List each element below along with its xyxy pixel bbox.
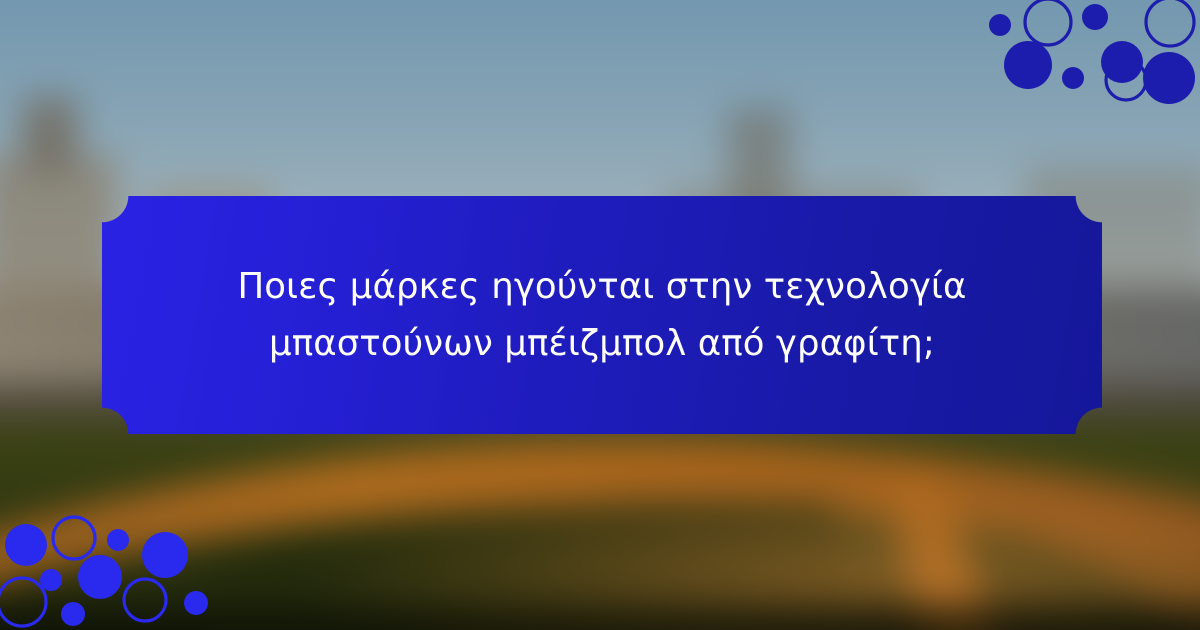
social-card-canvas: Ποιες μάρκες ηγούνται στην τεχνολογία μπ… (0, 0, 1200, 630)
headline-card: Ποιες μάρκες ηγούνται στην τεχνολογία μπ… (102, 196, 1102, 434)
headline-text: Ποιες μάρκες ηγούνται στην τεχνολογία μπ… (237, 258, 966, 373)
